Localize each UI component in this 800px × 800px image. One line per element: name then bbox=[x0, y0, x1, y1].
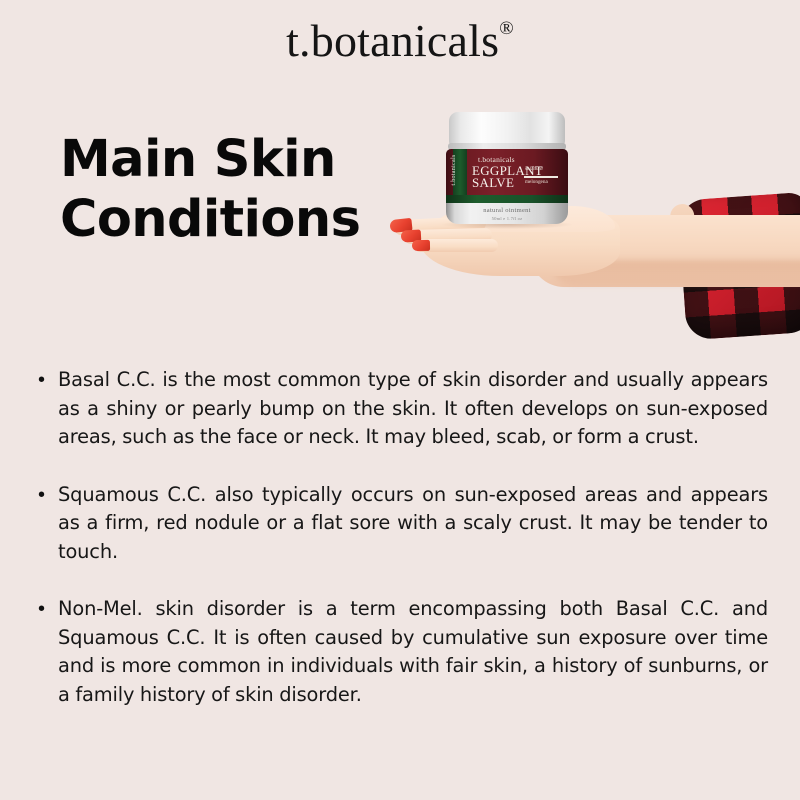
list-item: • Non-Mel. skin disorder is a term encom… bbox=[38, 595, 768, 709]
list-item-text: Basal C.C. is the most common type of sk… bbox=[58, 366, 768, 452]
jar-label-title-line-2: SALVE bbox=[472, 176, 514, 189]
product-hero-photo: t.botanicals t.botanicals EGGPLANT SALVE… bbox=[380, 100, 800, 350]
bullet-marker-icon: • bbox=[38, 481, 58, 567]
jar-body: t.botanicals t.botanicals EGGPLANT SALVE… bbox=[446, 149, 568, 224]
jar-label-green-footer bbox=[446, 195, 568, 203]
registered-trademark-icon: ® bbox=[499, 18, 514, 39]
jar-label-side-text: t.botanicals bbox=[451, 149, 457, 191]
jar-label-latin-line-2: melongena bbox=[525, 179, 565, 187]
jar-label-divider bbox=[524, 176, 558, 178]
bullet-marker-icon: • bbox=[38, 366, 58, 452]
page-title-line-2: Conditions bbox=[60, 190, 420, 250]
poster-canvas: t.botanicals® Main Skin Conditions t.bot… bbox=[0, 0, 800, 800]
list-item-text: Squamous C.C. also typically occurs on s… bbox=[58, 481, 768, 567]
list-item-text: Non-Mel. skin disorder is a term encompa… bbox=[58, 595, 768, 709]
page-title: Main Skin Conditions bbox=[60, 130, 420, 249]
jar-tagline: natural ointment bbox=[446, 207, 568, 214]
product-jar: t.botanicals t.botanicals EGGPLANT SALVE… bbox=[446, 112, 568, 224]
bullet-marker-icon: • bbox=[38, 595, 58, 709]
jar-volume: 50ml e 1.7fl oz bbox=[446, 216, 568, 221]
list-item: • Basal C.C. is the most common type of … bbox=[38, 366, 768, 452]
page-title-line-1: Main Skin bbox=[60, 130, 420, 190]
list-item: • Squamous C.C. also typically occurs on… bbox=[38, 481, 768, 567]
jar-lid bbox=[449, 112, 565, 146]
conditions-list: • Basal C.C. is the most common type of … bbox=[38, 366, 768, 709]
fingernail-ring bbox=[412, 240, 430, 251]
brand-logo: t.botanicals® bbox=[0, 18, 800, 64]
brand-name: t.botanicals bbox=[286, 15, 499, 66]
jar-label: t.botanicals t.botanicals EGGPLANT SALVE… bbox=[446, 149, 568, 202]
jar-label-latin-line-1: solanum bbox=[525, 166, 565, 174]
